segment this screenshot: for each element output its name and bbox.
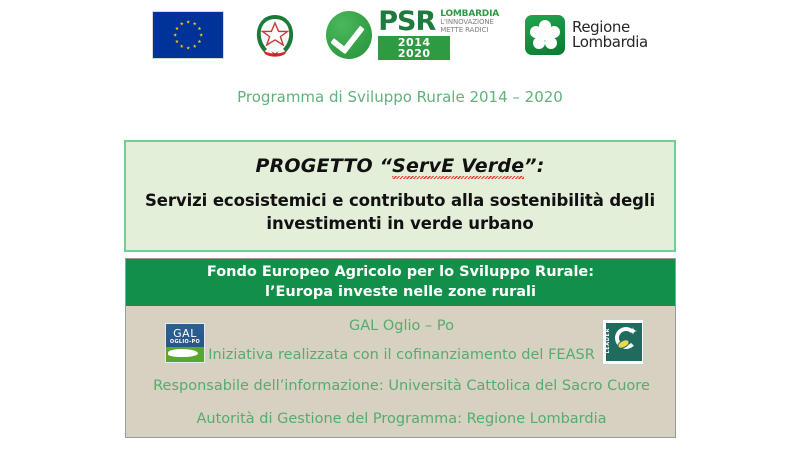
project-subtitle: Servizi ecosistemici e contributo alla s… — [145, 189, 655, 236]
eu-star-icon — [197, 40, 201, 44]
project-title: PROGETTO “ServE Verde”: — [255, 155, 544, 177]
footer-line-cofinancing: Iniziativa realizzata con il cofinanziam… — [126, 347, 677, 363]
eu-star-icon — [175, 27, 179, 31]
psr-lombardia-logo: PSR LOMBARDIA L'INNOVAZIONE METTE RADICI… — [326, 10, 499, 60]
eu-star-icon — [186, 46, 190, 50]
eu-star-icon — [180, 44, 184, 48]
eu-star-icon — [186, 20, 190, 24]
programme-subtitle: Programma di Sviluppo Rurale 2014 – 2020 — [0, 88, 800, 106]
regione-lombardia-rose-icon — [525, 15, 565, 55]
eu-star-icon — [175, 40, 179, 44]
feasr-banner-line-2: l’Europa investe nelle zone rurali — [265, 283, 536, 302]
psr-years-label: 2014 2020 — [378, 36, 450, 60]
psr-tagline-line2: METTE RADICI — [440, 27, 499, 34]
project-title-suffix: ”: — [524, 155, 544, 177]
project-title-box: PROGETTO “ServE Verde”: Servizi ecosiste… — [124, 140, 676, 252]
psr-checkmark-icon — [326, 11, 372, 59]
regione-hub-shape — [540, 30, 550, 40]
project-title-name: ServE Verde — [392, 155, 524, 177]
project-subtitle-line-2: investimenti in verde urbano — [145, 212, 655, 235]
eu-star-icon — [173, 33, 177, 37]
project-title-prefix: PROGETTO “ — [255, 155, 392, 177]
italian-republic-emblem-icon — [250, 9, 300, 61]
gal-subtitle: OGLIO-PO — [166, 340, 204, 345]
footer-box: GAL OGLIO-PO ✦ LEADER GAL Oglio – Po Ini… — [125, 306, 676, 438]
eu-star-icon — [199, 33, 203, 37]
footer-line-authority: Autorità di Gestione del Programma: Regi… — [126, 411, 677, 427]
eu-star-icon — [193, 22, 197, 26]
lombardia-label: Lombardia — [572, 35, 648, 50]
eu-star-icon — [197, 27, 201, 31]
footer-line-gal: GAL Oglio – Po — [126, 318, 677, 334]
regione-lombardia-logo: Regione Lombardia — [525, 15, 648, 55]
project-subtitle-line-1: Servizi ecosistemici e contributo alla s… — [145, 189, 655, 212]
footer-line-responsible: Responsabile dell’informazione: Universi… — [126, 378, 677, 394]
psr-wordmark: PSR — [378, 10, 435, 35]
eu-star-icon — [180, 22, 184, 26]
eu-star-icon — [193, 44, 197, 48]
feasr-banner: Fondo Europeo Agricolo per lo Sviluppo R… — [125, 258, 676, 306]
feasr-banner-line-1: Fondo Europeo Agricolo per lo Sviluppo R… — [207, 263, 594, 282]
header-logo-strip: PSR LOMBARDIA L'INNOVAZIONE METTE RADICI… — [0, 6, 800, 64]
eu-flag-icon — [152, 11, 224, 59]
